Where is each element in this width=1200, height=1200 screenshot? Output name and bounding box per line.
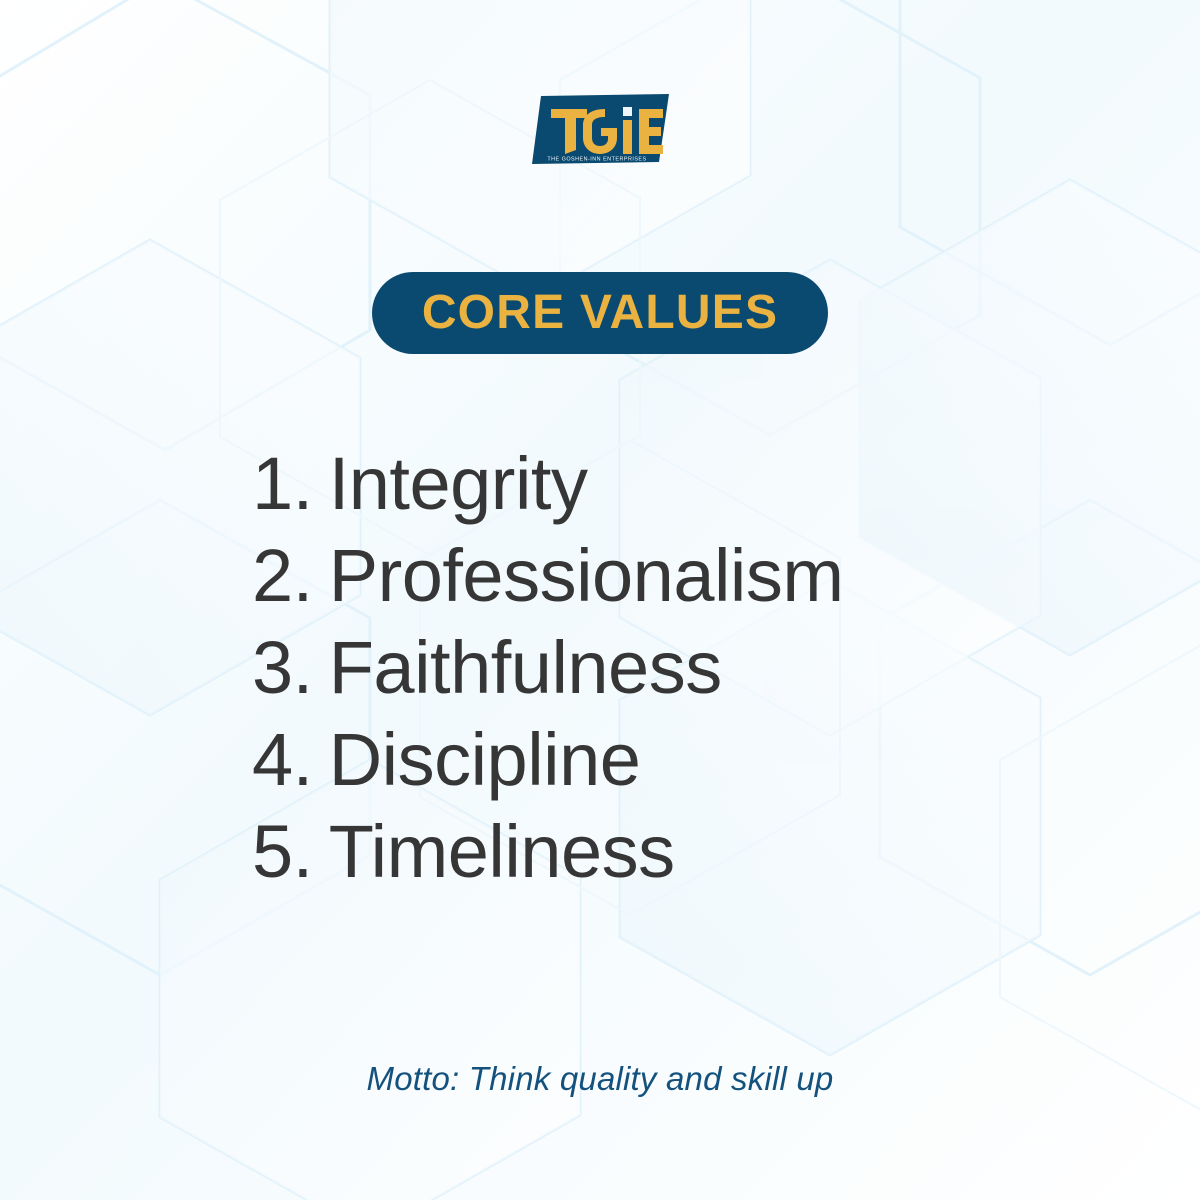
list-item: 2. Professionalism (252, 530, 1012, 622)
list-item-number: 4. (252, 714, 313, 806)
core-values-list: 1. Integrity 2. Professionalism 3. Faith… (252, 438, 1012, 898)
list-item: 1. Integrity (252, 438, 1012, 530)
core-values-badge-label: CORE VALUES (422, 289, 778, 337)
list-item-number: 2. (252, 530, 313, 622)
list-item-label: Professionalism (329, 530, 844, 622)
list-item: 5. Timeliness (252, 806, 1012, 898)
logo-letter-i-dot (623, 107, 632, 116)
brand-logo: THE GOSHEN-INN ENTERPRISES (0, 92, 1200, 166)
core-values-poster: THE GOSHEN-INN ENTERPRISES CORE VALUES 1… (0, 0, 1200, 1200)
list-item-number: 1. (252, 438, 313, 530)
list-item-label: Integrity (329, 438, 588, 530)
core-values-badge[interactable]: CORE VALUES (372, 272, 828, 354)
logo-plate: THE GOSHEN-INN ENTERPRISES (529, 92, 671, 166)
list-item: 4. Discipline (252, 714, 1012, 806)
list-item-label: Discipline (329, 714, 641, 806)
badge-row: CORE VALUES (0, 272, 1200, 354)
list-item-number: 5. (252, 806, 313, 898)
logo-letter-e (639, 109, 663, 154)
logo-subtitle: THE GOSHEN-INN ENTERPRISES (547, 157, 646, 163)
list-item-label: Faithfulness (329, 622, 722, 714)
list-item: 3. Faithfulness (252, 622, 1012, 714)
list-item-label: Timeliness (329, 806, 675, 898)
logo-letter-i (623, 120, 632, 154)
motto-text: Motto: Think quality and skill up (0, 1060, 1200, 1098)
list-item-number: 3. (252, 622, 313, 714)
